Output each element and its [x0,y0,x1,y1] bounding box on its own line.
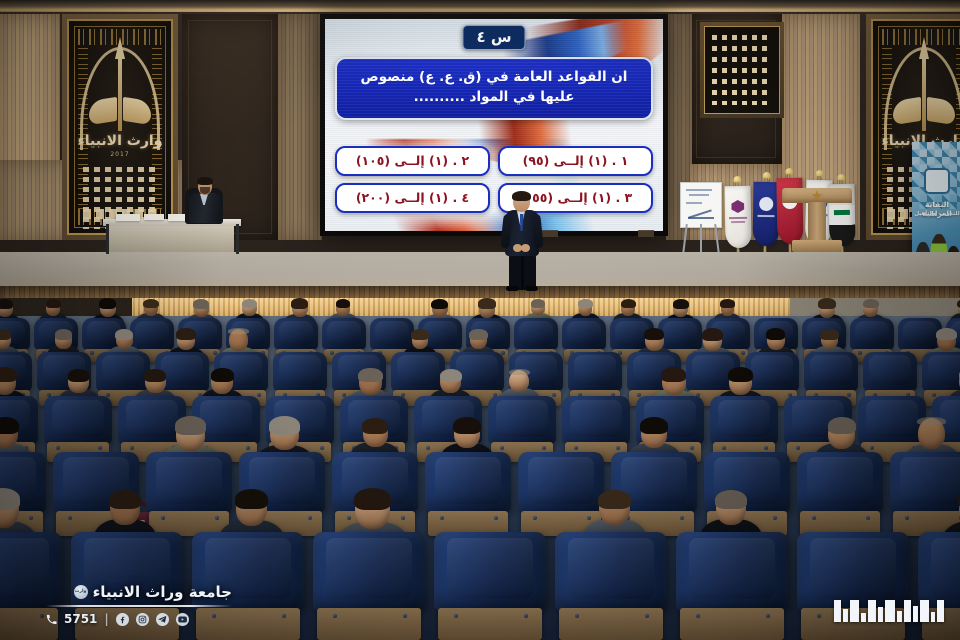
seat-backrest [44,396,112,444]
audience-hair [766,328,785,340]
audience-hair [354,488,391,510]
audience-hair [0,417,19,434]
seat-stud [766,614,770,618]
audience-hair [55,329,72,339]
audience-hair [621,299,636,308]
seat-backrest [96,352,150,391]
invigilator-hair [197,177,213,185]
seat-backrest [562,318,606,350]
question-number-badge: س ٤ [462,25,525,50]
presenter-shoe-right [525,286,538,291]
audience-hair [109,490,141,509]
audience-hair [531,299,545,308]
seat-backrest [391,352,445,391]
seat-backrest [313,532,425,610]
audience-hair [193,299,209,309]
audience-hair [578,299,593,308]
audience-hair [115,329,133,340]
seat-backrest [804,352,858,391]
audience-hair [242,299,257,308]
audience-hair [143,299,159,308]
flipchart-board [680,182,722,228]
wall-emblem-panel-left: وارث الانبياء 2017 [62,14,178,240]
seat-backrest [555,532,667,610]
audience-hair [598,490,630,509]
projection-screen: س ٤ ان القواعد العامة في (ق. ع. ع) منصوص… [325,19,663,231]
seat-stud [680,516,684,520]
audience-seat[interactable] [797,532,909,640]
kufic-wordmark-logo [834,600,944,622]
audience-hair [0,488,20,509]
projection-screen-frame: س ٤ ان القواعد العامة في (ق. ع. ع) منصوص… [320,14,668,236]
seat-backrest [676,532,788,610]
audience-hair [0,299,13,309]
watermark-contact-row: 5751 | [46,612,232,626]
seat-writing-tablet [438,608,541,640]
audience-hair [440,369,462,382]
audience-hair [720,299,735,308]
audience-hair [99,298,116,308]
seat-backrest [568,352,622,391]
flag-cloth-2 [752,182,779,246]
flag-text-line-1b [731,221,745,223]
facebook-icon[interactable] [116,613,129,626]
seat-backrest [898,318,942,350]
seat-stud [524,614,528,618]
audience-hair [336,299,351,308]
phone-icon [46,614,57,625]
watermark-title-row: جامعة وراث الانبياء وارث [46,583,232,601]
seat-stud [215,516,219,520]
seat-backrest [863,352,917,391]
flag-text-line-1a [729,217,747,219]
audience-hair [818,298,836,309]
seat-stud [401,516,405,520]
flipchart-leg-center [700,224,702,252]
seat-backrest [858,396,926,444]
emblem-pen-nib-icon-r [919,37,929,59]
audience-hair [411,329,429,340]
audience-hair [358,368,382,383]
audience-seat[interactable] [676,532,788,640]
audience-hair [820,329,838,340]
wooden-podium [782,188,852,254]
desk-leg-left [106,224,109,254]
seat-stud [866,516,870,520]
presenter-hands-2 [521,244,530,252]
seat-writing-tablet [317,608,420,640]
audience-hair [453,417,481,434]
presenter-shoe-left [506,286,519,291]
seat-stud [645,614,649,618]
presenter-lecturer [500,192,544,290]
audience-hair [936,328,957,340]
audience-hair [176,328,196,340]
question-text: ان القواعد العامة في (ق. ع. ع) منصوص علي… [335,57,653,120]
flag-emblem-2 [759,197,773,211]
seat-backrest [562,396,630,444]
audience-hair [478,298,496,309]
audience-hair [362,418,388,434]
watermark-block: جامعة وراث الانبياء وارث 5751 | [46,583,232,626]
flag-cloth-1 [724,186,751,248]
flipchart-leg-right [714,224,719,254]
watermark-divider [46,605,232,607]
audience-hair [228,328,249,334]
flag-text-line-2 [757,215,774,217]
flipchart-easel [680,182,724,254]
answer-option-4[interactable]: ٤ . (١) إلــى (٢٠٠) [335,183,490,213]
seated-invigilator [186,178,222,222]
seat-stud [494,516,498,520]
seat-backrest [146,452,232,512]
answer-option-2[interactable]: ٢ . (١) إلــى (١٠٥) [335,146,490,176]
audience-hair [715,490,747,509]
invigilator-beard [200,187,210,194]
watermark-seal-icon: وارث [74,585,88,599]
youtube-icon[interactable] [176,613,189,626]
seat-backrest [797,532,909,610]
flipchart-leg-left [682,224,687,254]
audience-hair [509,369,530,375]
audience-seat[interactable] [425,452,511,536]
audience-hair [175,416,206,435]
seat-backrest [514,318,558,350]
seat-backrest [710,396,778,444]
watermark-university-name: جامعة وراث الانبياء [93,583,232,601]
flag-emblem-1 [731,200,744,213]
seat-backrest [918,532,960,610]
audience-seat[interactable] [434,532,546,640]
watermark-phone-number: 5751 [64,612,97,626]
presenter-legs [509,254,536,290]
audience-hair [917,417,946,425]
audience-hair [469,329,487,340]
audience-hair [702,328,723,341]
seat-backrest [658,318,702,350]
emblem-pen-nib-icon [115,37,125,59]
seat-writing-tablet [559,608,662,640]
audience-hair [235,489,268,509]
banner-subtitle: للتدريب والتأهيل [912,211,960,217]
desk-leg-right [236,224,239,254]
audience-hair [673,299,689,309]
telegram-icon[interactable] [156,613,169,626]
seat-backrest [890,452,960,512]
emblem-script-left: وارث الانبياء [69,133,171,149]
lecture-hall-room: وارث الانبياء 2017 وارث الانبياء 2017 [0,0,960,640]
audience-hair [0,367,17,382]
seat-stud [29,516,33,520]
emblem-open-book-icon-r [893,99,955,125]
emblem-open-book-icon [89,99,151,125]
audience-hair [144,369,166,382]
audience-hair [728,367,753,382]
audience-hair [863,299,879,309]
audience-hair [431,299,448,309]
audience-hair [46,299,61,308]
audience-seat[interactable] [313,532,425,640]
wall-slats-left-of-screen [278,14,322,240]
answer-option-1[interactable]: ١ . (١) إلــى (٩٥) [498,146,653,176]
seat-backrest [797,452,883,512]
seat-stud [40,614,44,618]
seat-backrest [850,318,894,350]
presenter-hair [512,191,531,201]
kufic-plaque [700,22,784,118]
audience-hair [640,417,668,434]
audience-hair [291,298,308,308]
audience-hair [661,367,686,382]
seat-backrest [273,352,327,391]
answer-options-grid: ١ . (١) إلــى (٩٥) ٢ . (١) إلــى (١٠٥) ٣… [335,146,653,213]
desk-papers-2 [144,214,164,220]
podium-column [808,202,826,242]
audience-seat[interactable] [918,532,960,640]
seat-backrest [322,318,366,350]
instagram-icon[interactable] [136,613,149,626]
screen-bottom-fixture-left [542,230,558,237]
audience-hair [211,368,234,382]
seat-backrest [922,352,960,391]
seat-backrest [130,318,174,350]
seat-stud [308,516,312,520]
seat-backrest [274,318,318,350]
audience-seat[interactable] [890,452,960,536]
seat-stud [587,516,591,520]
screen-bottom-fixture-right [638,230,654,237]
seat-stud [773,516,777,520]
seat-backrest [425,452,511,512]
podium-base [792,240,842,252]
seat-stud [282,614,286,618]
watermark-separator: | [104,612,108,626]
audience-seat[interactable] [797,452,883,536]
seat-stud [403,614,407,618]
emblem-year-left: 2017 [69,151,171,158]
seat-backrest [518,452,604,512]
audience-hair [0,329,11,340]
podium-crest-icon [812,190,823,201]
audience-hair [644,328,664,340]
stage-desk-panel [108,226,234,252]
seat-backrest [488,396,556,444]
audience-hair [828,417,856,434]
seat-backrest [434,532,546,610]
audience-hair [269,416,300,435]
podium-top [782,188,852,203]
seat-writing-tablet [680,608,783,640]
audience-hair [68,369,90,382]
photo-canvas: وارث الانبياء 2017 وارث الانبياء 2017 [0,0,960,640]
banner-rosette-icon [924,168,950,194]
desk-papers-1 [116,214,140,221]
audience-seat[interactable] [555,532,667,640]
seat-backrest [745,352,799,391]
audience-seat[interactable] [146,452,232,536]
seat-backrest [370,318,414,350]
